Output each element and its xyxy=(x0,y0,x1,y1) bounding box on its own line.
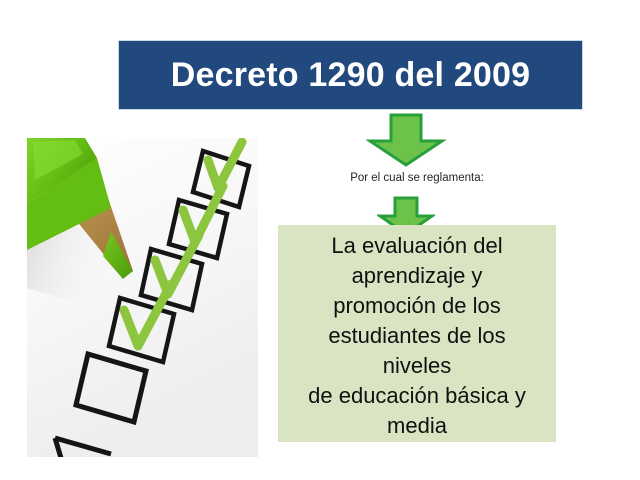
content-box: La evaluación del aprendizaje y promoció… xyxy=(278,225,556,442)
page-title: Decreto 1290 del 2009 xyxy=(171,58,531,92)
title-banner: Decreto 1290 del 2009 xyxy=(118,40,583,110)
slide-canvas: Decreto 1290 del 2009 Por el cual se reg… xyxy=(0,0,640,480)
content-box-text: La evaluación del aprendizaje y promoció… xyxy=(284,231,550,441)
down-arrow-icon xyxy=(366,113,446,167)
checklist-photo xyxy=(27,138,258,457)
reglamenta-caption: Por el cual se reglamenta: xyxy=(278,172,556,186)
